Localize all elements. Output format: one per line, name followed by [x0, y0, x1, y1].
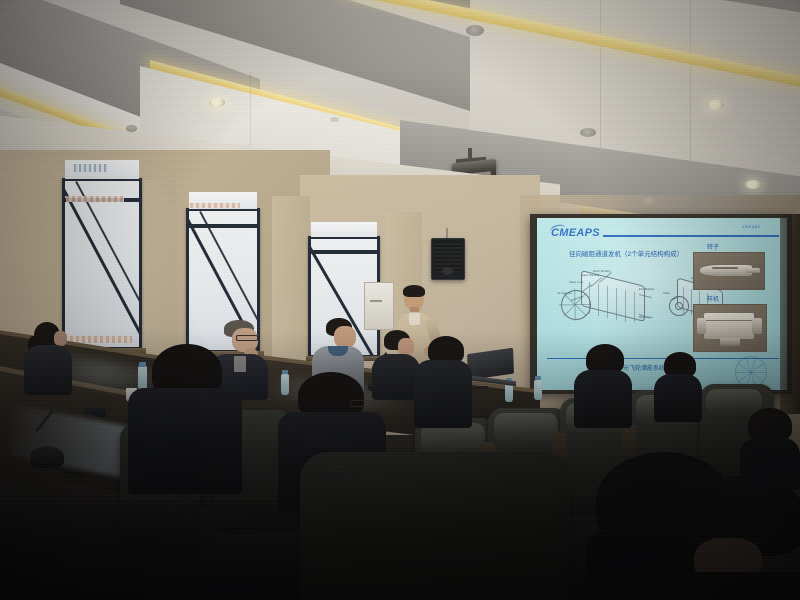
rotor-photo: [693, 252, 765, 290]
attendee: [654, 352, 706, 422]
diagram-callout-label: Rotor Core: [639, 315, 653, 319]
window-mullion-diagonal: [65, 185, 139, 347]
ceiling-panel-seam: [600, 0, 601, 170]
prototype-flange-left: [697, 318, 706, 334]
attendee-torso: [24, 345, 72, 395]
rotor-photo-label: 转子: [707, 242, 719, 251]
prototype-body: [704, 313, 754, 339]
window-left: [62, 178, 142, 350]
attendee: [414, 336, 476, 428]
attendee: [128, 344, 246, 494]
conference-room-photo: CMEAPS cmeaps 径向磁阻通道发机（2个单元结构构成）: [0, 0, 800, 600]
sprinkler-icon: [330, 117, 339, 122]
diagram-rib: [634, 292, 635, 322]
diagram-callout-label: Stator Winding: [581, 273, 599, 277]
diagram-callout-label: Stator Core: [569, 280, 583, 284]
window-transom-bar: [186, 224, 260, 228]
diagram-rib: [625, 290, 626, 322]
wall-speaker: [431, 238, 465, 280]
window-transom-bar: [308, 250, 380, 254]
wall-pilaster: [272, 196, 310, 366]
presenter-hair: [403, 285, 425, 297]
slide-title: 径向磁阻通道发机（2个单元结构构成）: [569, 248, 683, 258]
wall-cabinet: [364, 282, 394, 330]
attendee-glasses-icon: [236, 335, 258, 341]
downlight-icon: [707, 100, 724, 110]
prototype-seam: [706, 320, 752, 321]
downlight-icon: [580, 128, 596, 137]
diagram-rib: [616, 288, 617, 320]
window-mullion-diagonal: [75, 181, 139, 347]
attendee: [18, 322, 74, 396]
attendee-torso: [740, 438, 800, 490]
conference-microphone-base[interactable]: [30, 446, 64, 468]
attendee-torso: [414, 360, 472, 428]
prototype-photo-label: 样机: [707, 294, 719, 303]
prototype-photo: [693, 304, 767, 352]
water-bottle[interactable]: [534, 380, 542, 400]
screen-wall-shadow: [780, 214, 800, 414]
diagram-rib: [607, 286, 608, 318]
attendee-torso: [128, 388, 242, 494]
wall-pilaster: [140, 180, 176, 360]
diagram-callout-label: End Bracket: [639, 287, 654, 291]
downlight-icon: [209, 98, 225, 107]
chair-highlight: [494, 413, 558, 445]
window-blind-strip: [66, 196, 124, 202]
window-glass: [65, 181, 139, 347]
slide-corner-text: cmeaps: [742, 224, 760, 229]
ceiling-panel-seam: [250, 72, 251, 152]
diagram-fin: [574, 305, 575, 321]
diagram-shaft-bore: [675, 302, 683, 310]
engine-cutaway-diagram: Rotor Winding Stator Winding Stator Core…: [553, 268, 663, 346]
rotor-shaft: [746, 268, 760, 273]
downlight-icon: [466, 25, 484, 36]
downlight-icon: [745, 180, 761, 189]
window-transom-right: [311, 222, 377, 237]
attendee-face: [54, 331, 67, 346]
wall-cabinet-handle-icon: [370, 300, 382, 302]
attendee-face: [334, 326, 356, 348]
attendee-torso: [574, 370, 632, 428]
diagram-rib: [598, 284, 599, 316]
attendee: [740, 408, 800, 488]
slide-header-rule: [603, 235, 779, 237]
speaker-woofer-icon: [442, 267, 453, 275]
diagram-callout-label: Shaft: [663, 291, 670, 295]
diagram-rib: [691, 289, 692, 315]
diagram-callout-label: Air Channel: [557, 291, 572, 295]
presenter-shirt-collar: [409, 313, 420, 325]
rotor-detail: [712, 267, 738, 269]
attendee-torso: [676, 572, 800, 600]
prototype-base: [720, 338, 740, 346]
attendee: [574, 344, 636, 428]
attendee-hair: [748, 408, 792, 442]
conference-microphone-head: [51, 404, 58, 411]
ceiling-panel-seam: [690, 0, 691, 170]
attendee-torso: [654, 374, 702, 422]
bottle-cap: [535, 376, 541, 380]
prototype-flange-right: [752, 318, 762, 334]
attendee-glasses-icon: [350, 400, 374, 407]
diagram-housing: [581, 270, 645, 322]
executive-chair-foreground[interactable]: [300, 452, 570, 600]
window-blind-strip: [190, 203, 240, 208]
attendee-foreground: [686, 476, 800, 600]
window-label-strip: [74, 164, 108, 172]
